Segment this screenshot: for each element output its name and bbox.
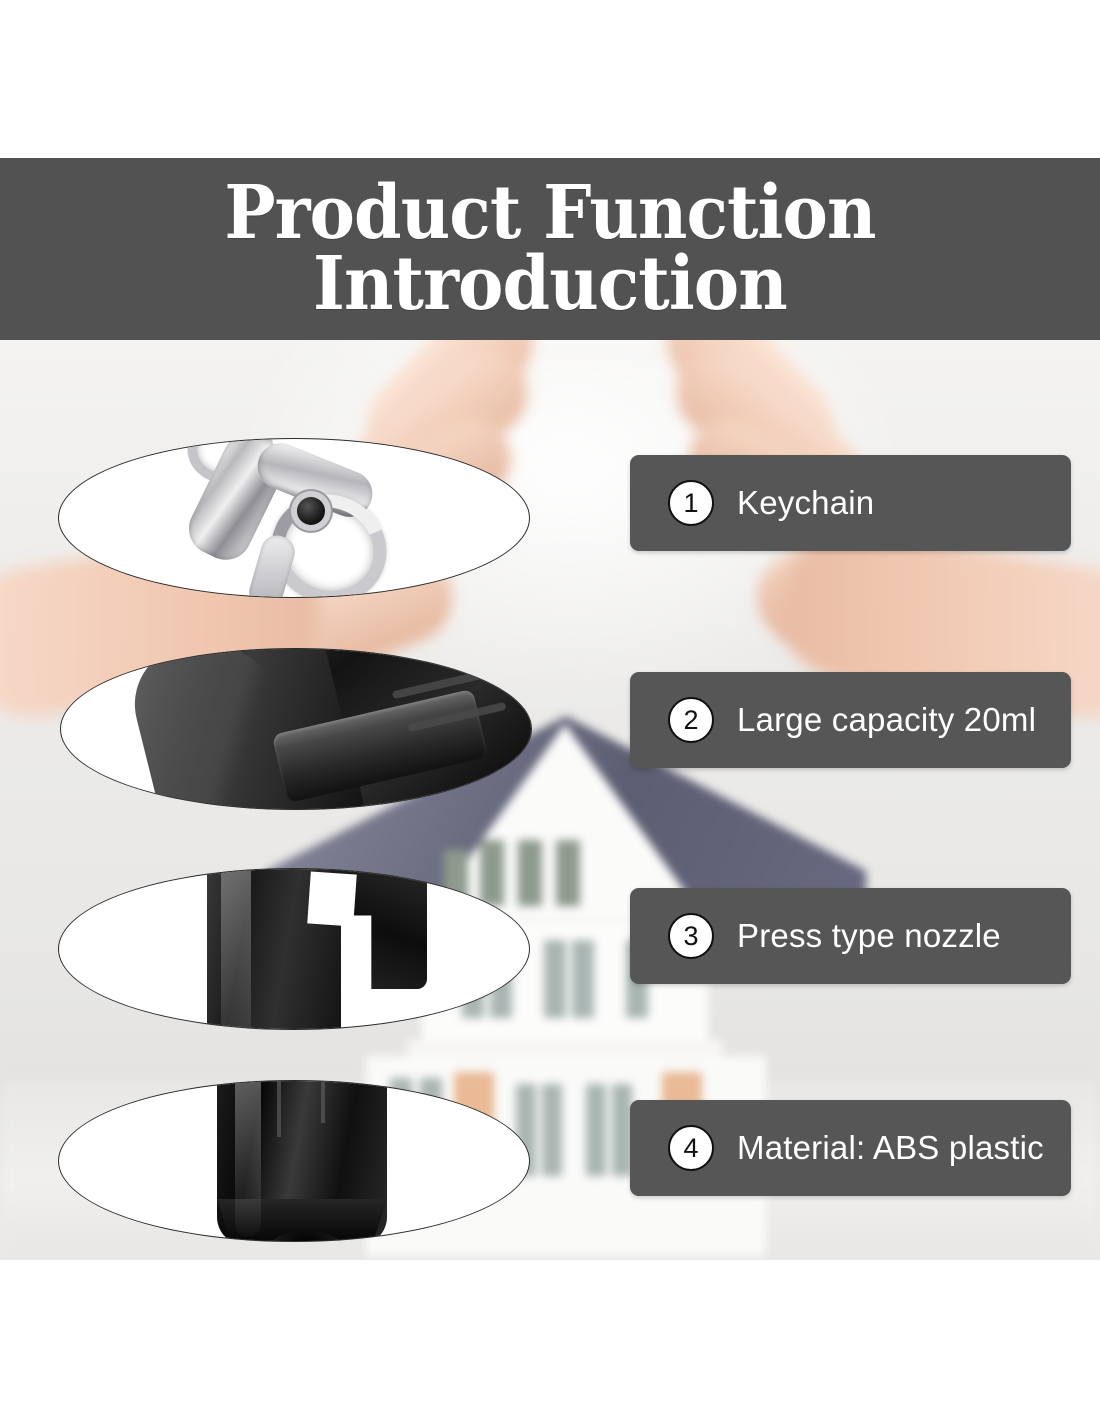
house-window <box>544 940 566 1018</box>
house-window <box>542 1084 562 1176</box>
callout-ellipse-material <box>58 1080 530 1242</box>
feature-bar-1[interactable]: 1 Keychain <box>630 455 1071 551</box>
nozzle-highlight <box>221 868 251 1030</box>
house-window <box>480 840 504 906</box>
product-scene-photo: 1 Keychain 2 Large capacity 20ml 3 Press… <box>0 340 1100 1260</box>
feature-bar-3[interactable]: 3 Press type nozzle <box>630 888 1071 984</box>
bottle-base-seam <box>321 1080 325 1123</box>
house-window <box>572 940 594 1018</box>
house-window <box>586 1084 606 1176</box>
bottle-base-highlight <box>235 1080 261 1237</box>
callout-ellipse-capacity <box>60 648 532 810</box>
page-title: Product Function Introduction <box>224 178 875 320</box>
house-floor-band <box>408 1040 722 1056</box>
feature-number-badge-2: 2 <box>668 697 714 743</box>
callout-ellipse-keychain <box>58 438 530 598</box>
feature-label-2: Large capacity 20ml <box>737 701 1036 739</box>
feature-bar-4[interactable]: 4 Material: ABS plastic <box>630 1100 1071 1196</box>
bottle-base-seam <box>277 1080 281 1137</box>
header-banner: Product Function Introduction <box>0 158 1100 340</box>
feature-number-badge-1: 1 <box>668 480 714 526</box>
feature-number-badge-4: 4 <box>668 1125 714 1171</box>
keychain-clasp-pivot <box>297 497 325 525</box>
nozzle-notch <box>307 871 357 926</box>
feature-label-1: Keychain <box>737 484 874 522</box>
feature-label-4: Material: ABS plastic <box>737 1129 1044 1167</box>
product-infographic-page: Product Function Introduction <box>0 0 1100 1422</box>
house-window <box>518 840 542 906</box>
house-window <box>612 1084 632 1176</box>
callout-ellipse-nozzle <box>58 868 530 1030</box>
feature-number-badge-3: 3 <box>668 913 714 959</box>
feature-bar-2[interactable]: 2 Large capacity 20ml <box>630 672 1071 768</box>
feature-label-3: Press type nozzle <box>737 917 1001 955</box>
house-window <box>556 840 580 906</box>
bottom-white-margin <box>0 1260 1100 1422</box>
